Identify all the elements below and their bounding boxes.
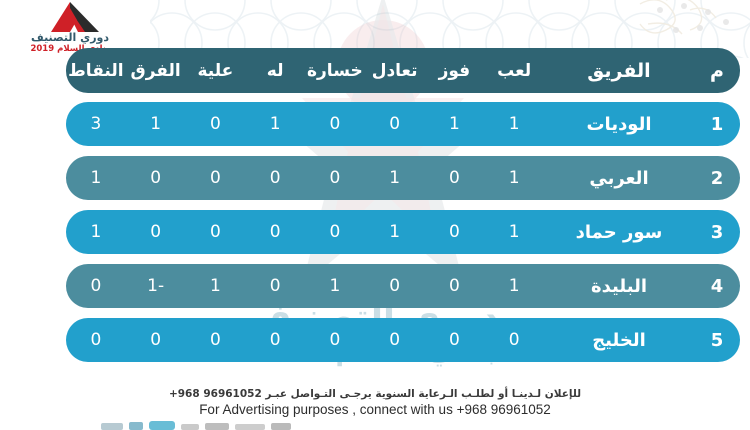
row-goal-difference: 0	[126, 222, 186, 242]
row-lost: 0	[305, 168, 365, 188]
table-row[interactable]: 5 الخليج 0 0 0 0 0 0 0 0	[66, 318, 740, 362]
table-header-row: م الفريق لعب فوز تعادل خسارة له علية الف…	[66, 48, 740, 93]
row-lost: 0	[305, 330, 365, 350]
row-lost: 0	[305, 114, 365, 134]
row-won: 0	[425, 222, 485, 242]
row-team-name: سور حماد	[544, 222, 694, 243]
row-drawn: 0	[365, 330, 425, 350]
header-won: فوز	[425, 61, 485, 81]
table-row[interactable]: 1 الوديات 1 1 0 0 1 0 1 3	[66, 102, 740, 146]
row-goal-difference: 1	[126, 114, 186, 134]
row-goals-against: 0	[186, 330, 246, 350]
footer-english-text: For Advertising purposes , connect with …	[0, 402, 750, 417]
row-played: 1	[484, 114, 544, 134]
row-goals-for: 1	[245, 114, 305, 134]
row-played: 1	[484, 168, 544, 188]
row-played: 1	[484, 222, 544, 242]
header-lost: خسارة	[305, 61, 365, 81]
row-drawn: 1	[365, 222, 425, 242]
league-logo: دوري التصنيف بنادي السلام 2019	[10, 2, 130, 52]
row-goals-against: 0	[186, 222, 246, 242]
table-row[interactable]: 3 سور حماد 1 0 1 0 0 0 0 1	[66, 210, 740, 254]
row-goals-against: 1	[186, 276, 246, 296]
header-index: م	[694, 60, 740, 82]
row-goals-for: 0	[245, 222, 305, 242]
row-index: 3	[694, 222, 740, 243]
sponsor-logos-strip	[95, 420, 355, 430]
row-index: 5	[694, 330, 740, 351]
footer: للإعلان لـدينـا أو لطلـب الـرعاية السنوي…	[0, 388, 750, 417]
row-won: 0	[425, 330, 485, 350]
row-team-name: الخليج	[544, 330, 694, 351]
row-goal-difference: 0	[126, 168, 186, 188]
row-goal-difference: -1	[126, 276, 186, 296]
row-points: 3	[66, 114, 126, 134]
row-index: 4	[694, 276, 740, 297]
row-lost: 1	[305, 276, 365, 296]
row-won: 1	[425, 114, 485, 134]
row-goals-for: 0	[245, 276, 305, 296]
header-goals-against: علية	[186, 61, 246, 81]
row-team-name: الوديات	[544, 114, 694, 135]
standings-page: دوري التصنيف بنادي السلام 2019 دوري التص…	[0, 0, 750, 430]
table-row[interactable]: 2 العربي 1 0 1 0 0 0 0 1	[66, 156, 740, 200]
logo-mark-icon	[33, 2, 107, 32]
row-goals-against: 0	[186, 114, 246, 134]
row-goals-for: 0	[245, 330, 305, 350]
logo-title: دوري التصنيف	[10, 31, 130, 44]
row-points: 1	[66, 168, 126, 188]
row-points: 0	[66, 276, 126, 296]
row-index: 1	[694, 114, 740, 135]
standings-table: م الفريق لعب فوز تعادل خسارة له علية الف…	[66, 48, 740, 372]
row-drawn: 1	[365, 168, 425, 188]
row-index: 2	[694, 168, 740, 189]
header-points: النقاط	[66, 61, 126, 81]
footer-arabic-text: للإعلان لـدينـا أو لطلـب الـرعاية السنوي…	[0, 388, 750, 400]
header-team: الفريق	[544, 60, 694, 82]
row-points: 1	[66, 222, 126, 242]
row-goal-difference: 0	[126, 330, 186, 350]
header-played: لعب	[484, 61, 544, 81]
header-goal-difference: الفرق	[126, 61, 186, 81]
row-team-name: البليدة	[544, 276, 694, 297]
row-played: 0	[484, 330, 544, 350]
row-team-name: العربي	[544, 168, 694, 189]
row-played: 1	[484, 276, 544, 296]
row-drawn: 0	[365, 114, 425, 134]
row-goals-for: 0	[245, 168, 305, 188]
row-goals-against: 0	[186, 168, 246, 188]
row-won: 0	[425, 168, 485, 188]
header-drawn: تعادل	[365, 61, 425, 81]
row-points: 0	[66, 330, 126, 350]
row-drawn: 0	[365, 276, 425, 296]
row-lost: 0	[305, 222, 365, 242]
table-row[interactable]: 4 البليدة 1 0 0 1 0 1 -1 0	[66, 264, 740, 308]
row-won: 0	[425, 276, 485, 296]
header-goals-for: له	[245, 61, 305, 81]
